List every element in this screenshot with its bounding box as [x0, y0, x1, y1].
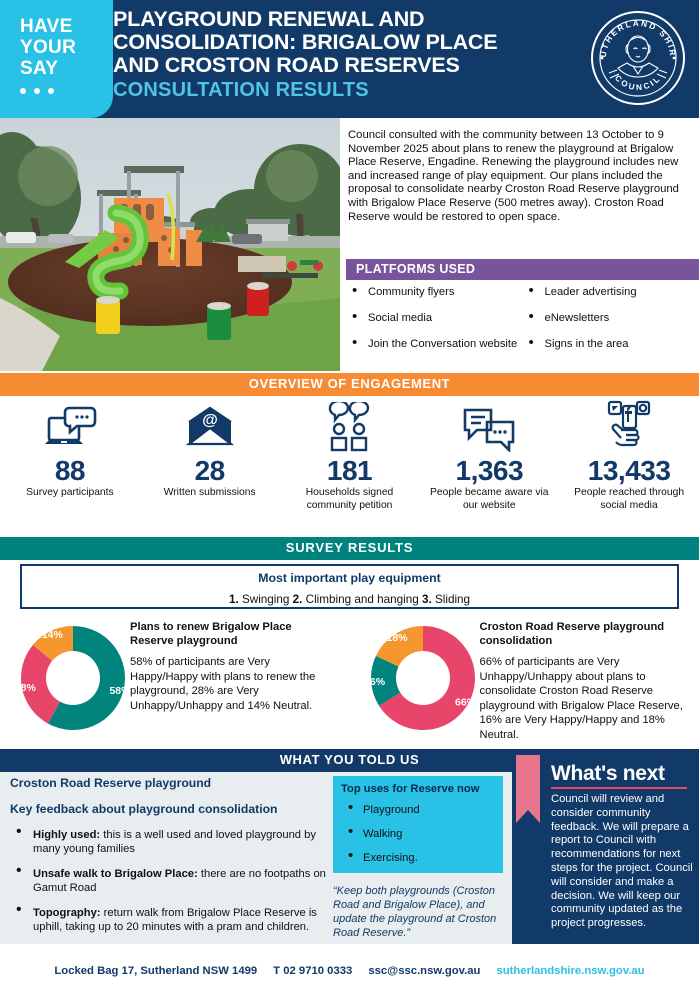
rank-3: 3. — [422, 593, 432, 606]
list-item: Signs in the area — [523, 338, 699, 351]
sutherland-shire-council-crest-icon: SUTHERLAND SHIRE COUNCIL — [589, 9, 687, 107]
stat-number: 28 — [140, 455, 280, 487]
hys-line-3: SAY — [20, 58, 113, 79]
chart-group-croston: 66%16%18% Croston Road Reserve playgroun… — [350, 617, 699, 745]
rank-3-name: Sliding — [435, 593, 470, 606]
list-item: Community flyers — [346, 286, 523, 299]
title-line-2: CONSOLIDATION: BRIGALOW PLACE — [113, 31, 573, 54]
footer-website[interactable]: sutherlandshire.nsw.gov.au — [496, 965, 644, 977]
hys-dots-icon — [20, 88, 113, 94]
stat-petition-households: 181 Households signed community petition — [280, 400, 420, 532]
svg-text:@: @ — [202, 412, 218, 429]
title-line-1: PLAYGROUND RENEWAL AND — [113, 8, 573, 31]
stat-label: People became aware via our website — [419, 487, 559, 512]
list-item: Topography: return walk from Brigalow Pl… — [10, 906, 330, 934]
chart-body: 58% of participants are Very Happy/Happy… — [130, 655, 335, 713]
feedback-subhead-1: Croston Road Reserve playground — [10, 776, 330, 790]
stat-number: 1,363 — [419, 455, 559, 487]
stat-label: Written submissions — [140, 487, 280, 500]
feedback-lead: Highly used: — [33, 829, 100, 841]
stat-social-media-reach: 13,433 People reached through social med… — [559, 400, 699, 532]
donut-segment-label: 18% — [386, 632, 408, 644]
stat-label: Survey participants — [0, 487, 140, 500]
stat-number: 13,433 — [559, 455, 699, 487]
donut-segment-label: 28% — [15, 682, 37, 694]
community-quote: “Keep both playgrounds (Croston Road and… — [333, 884, 508, 940]
hys-line-2: YOUR — [20, 37, 113, 58]
intro-paragraph: Council consulted with the community bet… — [348, 129, 692, 224]
stat-number: 88 — [0, 455, 140, 487]
ribbon-icon — [516, 755, 540, 823]
footer-address: Locked Bag 17, Sutherland NSW 1499 — [54, 965, 257, 977]
chart-title: Plans to renew Brigalow Place Reserve pl… — [130, 621, 335, 648]
list-item: Join the Conversation website — [346, 338, 523, 351]
platforms-used-heading: PLATFORMS USED — [346, 259, 699, 280]
list-item: eNewsletters — [523, 312, 699, 325]
speech-bubbles-icon — [419, 400, 559, 452]
overview-heading: OVERVIEW OF ENGAGEMENT — [0, 373, 699, 396]
donut-segment-label: 58% — [109, 685, 131, 697]
list-item: Social media — [346, 312, 523, 325]
list-item: Unsafe walk to Brigalow Place: there are… — [10, 867, 330, 895]
have-your-say-logo: HAVE YOUR SAY — [0, 0, 113, 118]
two-people-speech-icon — [280, 400, 420, 452]
whats-next-rule — [551, 787, 687, 789]
donut-segment-label: 16% — [364, 676, 386, 688]
chart-description-brigalow: Plans to renew Brigalow Place Reserve pl… — [130, 617, 335, 745]
list-item: Exercising. — [341, 852, 495, 865]
stat-website-awareness: 1,363 People became aware via our websit… — [419, 400, 559, 532]
svg-text:COUNCIL: COUNCIL — [613, 73, 663, 92]
list-item: Playground — [341, 804, 495, 817]
survey-results-heading: SURVEY RESULTS — [0, 537, 699, 560]
stat-label: Households signed community petition — [280, 487, 420, 512]
whats-next-body: Council will review and consider communi… — [551, 793, 693, 931]
donut-chart-brigalow: 58%28%14% — [0, 617, 130, 745]
rank-1: 1. — [229, 593, 239, 606]
donut-chart-croston: 66%16%18% — [350, 617, 480, 745]
chart-group-brigalow: 58%28%14% Plans to renew Brigalow Place … — [0, 617, 350, 745]
title-line-3: AND CROSTON ROAD RESERVES — [113, 54, 573, 77]
chart-title: Croston Road Reserve playground consolid… — [480, 621, 685, 648]
envelope-at-icon: @ — [140, 400, 280, 452]
feedback-lead: Unsafe walk to Brigalow Place: — [33, 868, 198, 880]
top-uses-title: Top uses for Reserve now — [341, 783, 495, 795]
feedback-column: Croston Road Reserve playground Key feed… — [10, 776, 330, 945]
rank-2: 2. — [293, 593, 303, 606]
stat-number: 181 — [280, 455, 420, 487]
feedback-subhead-2: Key feedback about playground consolidat… — [10, 802, 330, 816]
rank-2-name: Climbing and hanging — [306, 593, 419, 606]
title-subtitle: CONSULTATION RESULTS — [113, 79, 573, 102]
platforms-left-column: Community flyers Social media Join the C… — [346, 286, 523, 372]
list-item: Leader advertising — [523, 286, 699, 299]
page-title: PLAYGROUND RENEWAL AND CONSOLIDATION: BR… — [113, 8, 573, 102]
most-important-equipment-box: Most important play equipment 1. Swingin… — [20, 564, 679, 609]
platforms-used-list: Community flyers Social media Join the C… — [346, 286, 699, 372]
footer-phone[interactable]: T 02 9710 0333 — [273, 965, 352, 977]
chart-description-croston: Croston Road Reserve playground consolid… — [480, 617, 685, 745]
equipment-title: Most important play equipment — [22, 571, 677, 585]
laptop-chat-icon — [0, 400, 140, 452]
feedback-lead: Topography: — [33, 907, 101, 919]
whats-next-title: What's next — [551, 762, 665, 786]
list-item: Highly used: this is a well used and lov… — [10, 828, 330, 856]
page-header: HAVE YOUR SAY PLAYGROUND RENEWAL AND CON… — [0, 0, 699, 118]
donut-segment-label: 66% — [454, 696, 476, 708]
stat-written-submissions: @ 28 Written submissions — [140, 400, 280, 532]
playground-photo — [0, 118, 340, 371]
donut-segment-label: 14% — [42, 629, 64, 641]
top-uses-box: Top uses for Reserve now Playground Walk… — [333, 776, 503, 873]
survey-donut-charts: 58%28%14% Plans to renew Brigalow Place … — [0, 617, 699, 745]
page-footer: Locked Bag 17, Sutherland NSW 1499 T 02 … — [0, 944, 699, 997]
social-phone-hand-icon — [559, 400, 699, 452]
infographic-page: HAVE YOUR SAY PLAYGROUND RENEWAL AND CON… — [0, 0, 699, 997]
engagement-stats: 88 Survey participants @ 28 Written subm… — [0, 400, 699, 532]
svg-text:SUTHERLAND SHIRE: SUTHERLAND SHIRE — [589, 9, 677, 58]
list-item: Walking — [341, 828, 495, 841]
stat-survey-participants: 88 Survey participants — [0, 400, 140, 532]
rank-1-name: Swinging — [242, 593, 289, 606]
platforms-right-column: Leader advertising eNewsletters Signs in… — [523, 286, 699, 372]
hys-line-1: HAVE — [20, 16, 113, 37]
equipment-ranking: 1. Swinging 2. Climbing and hanging 3. S… — [22, 593, 677, 606]
stat-label: People reached through social media — [559, 487, 699, 512]
chart-body: 66% of participants are Very Unhappy/Unh… — [480, 655, 685, 742]
footer-email[interactable]: ssc@ssc.nsw.gov.au — [368, 965, 480, 977]
